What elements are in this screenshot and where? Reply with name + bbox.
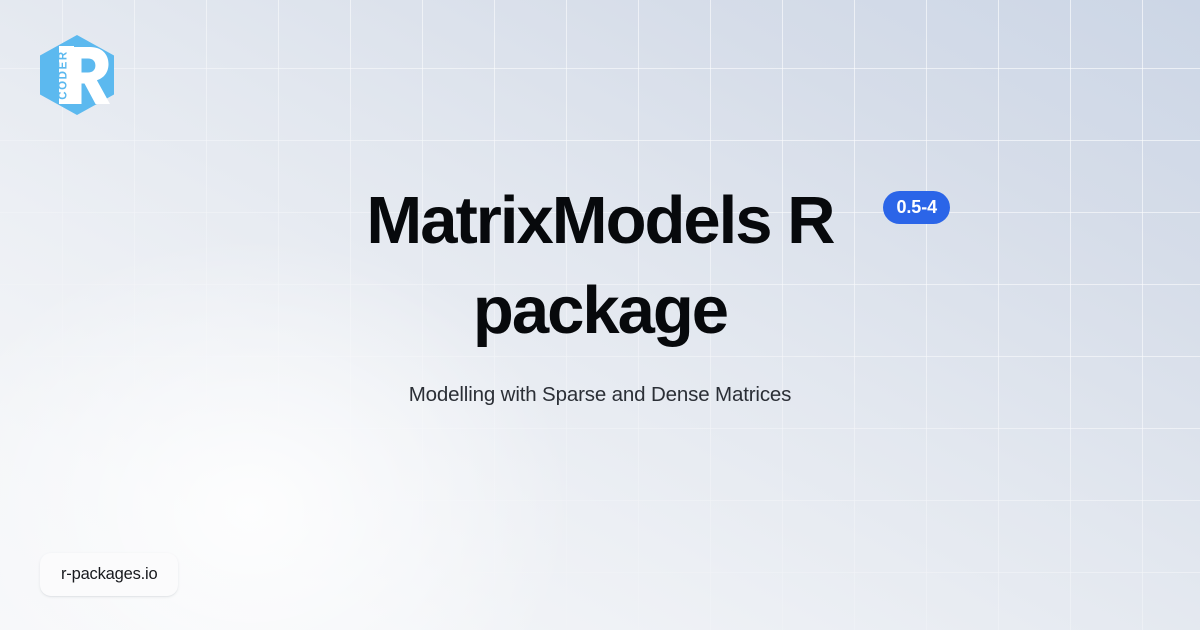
page-subtitle: Modelling with Sparse and Dense Matrices [409, 381, 792, 409]
title-wrap: MatrixModels R package 0.5-4 [320, 176, 880, 356]
logo-vertical-text: CODER [58, 50, 70, 100]
site-url-badge: r-packages.io [40, 553, 178, 597]
version-badge: 0.5-4 [883, 191, 950, 224]
page-title: MatrixModels R package [320, 176, 880, 356]
r-coder-hexagon-logo: CODER [38, 34, 116, 116]
social-share-card: CODER MatrixModels R package 0.5-4 Model… [0, 0, 1200, 630]
hero-section: MatrixModels R package 0.5-4 Modelling w… [0, 176, 1200, 409]
